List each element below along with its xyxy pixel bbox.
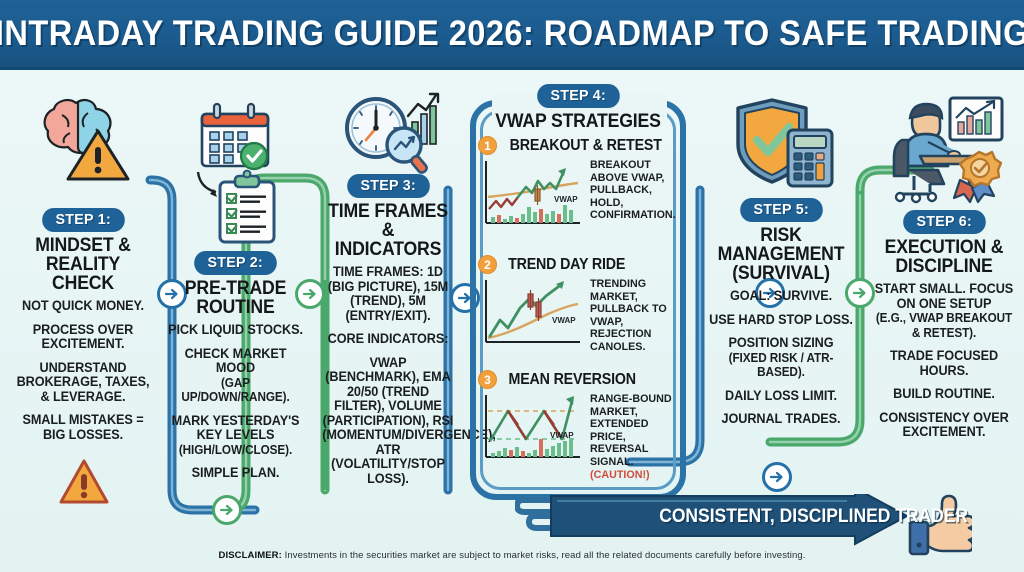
header-bar: INTRADAY TRADING GUIDE 2026: ROADMAP TO … <box>0 0 1024 70</box>
arrow-right-icon <box>219 502 235 518</box>
step-2-title: PRE-TRADE ROUTINE <box>168 279 303 317</box>
step-6-title: EXECUTION & DISCIPLINE <box>873 238 1014 276</box>
chart-breakout-retest: VWAP <box>478 157 586 231</box>
step-3-badge: STEP 3: <box>347 174 429 198</box>
strategy-2-description: TRENDING MARKET, PULLBACK TO VWAP, REJEC… <box>590 276 674 354</box>
step-5-title: RISK MANAGEMENT (SURVIVAL) <box>706 226 857 283</box>
strategy-mean-reversion: 3 MEAN REVERSION <box>478 370 678 481</box>
strategy-1-description: BREAKOUT ABOVE VWAP, PULLBACK, HOLD, CON… <box>590 157 676 222</box>
list-item: NOT QUICK MONEY. <box>13 299 154 314</box>
strategy-2-body: VWAP TRENDING MARKET, PULLBACK TO VWAP, … <box>478 276 678 354</box>
step-2-bullets: PICK LIQUID STOCKS. CHECK MARKET MOOD (G… <box>163 323 308 481</box>
clock-magnifier-chart-icon <box>342 92 442 176</box>
list-item: PROCESS OVER EXCITEMENT. <box>13 323 154 352</box>
caution-note: (CAUTION!) <box>590 469 650 481</box>
page-title: INTRADAY TRADING GUIDE 2026: ROADMAP TO … <box>0 14 1024 54</box>
list-item: CONSISTENCY OVER EXCITEMENT. <box>873 411 1016 440</box>
list-item: UNDERSTAND BROKERAGE, TAXES, & LEVERAGE. <box>13 361 154 405</box>
list-item: START SMALL. FOCUS ON ONE SETUP (E.G., V… <box>873 282 1016 340</box>
list-item: CHECK MARKET MOOD (GAP UP/DOWN/RANGE). <box>167 347 303 405</box>
brain-warning-icon <box>36 93 132 183</box>
vwap-label: VWAP <box>550 431 574 440</box>
step-5-bullets: GOAL: SURVIVE. USE HARD STOP LOSS. POSIT… <box>700 289 862 427</box>
list-item: BUILD ROUTINE. <box>873 387 1016 402</box>
strategy-number-badge: 3 <box>478 370 497 389</box>
strategy-3-description: RANGE-BOUND MARKET, EXTENDED PRICE, REVE… <box>590 391 674 481</box>
strategy-2-name: TREND DAY RIDE <box>508 256 625 274</box>
warning-triangle-icon <box>58 458 110 506</box>
strategy-2-header: 2 TREND DAY RIDE <box>478 255 678 274</box>
strategy-number-badge: 2 <box>478 255 497 274</box>
strategy-breakout-retest: 1 BREAKOUT & RETEST <box>478 136 678 231</box>
list-item: VWAP (BENCHMARK), EMA 20/50 (TREND FILTE… <box>322 356 454 487</box>
connector-arrow-2-bottom <box>212 495 242 525</box>
chart-mean-reversion: VWAP <box>478 391 586 465</box>
strategy-3-body: VWAP RANGE-BOUND MARKET, EXTENDED PRICE,… <box>478 391 678 481</box>
step-4-header: STEP 4: VWAP STRATEGIES <box>470 84 686 133</box>
step-4-badge: STEP 4: <box>537 84 619 108</box>
strategy-trend-day-ride: 2 TREND DAY RIDE VWAP TRENDING MARKET, P… <box>478 255 678 354</box>
step-1-bullets: NOT QUICK MONEY. PROCESS OVER EXCITEMENT… <box>8 299 158 442</box>
step-4-title: VWAP STRATEGIES <box>478 111 679 133</box>
strategy-1-name: BREAKOUT & RETEST <box>510 137 662 155</box>
vwap-label: VWAP <box>554 195 578 204</box>
infographic-root: INTRADAY TRADING GUIDE 2026: ROADMAP TO … <box>0 0 1024 572</box>
disclaimer-prefix: DISCLAIMER: <box>219 550 282 561</box>
list-item: MARK YESTERDAY'S KEY LEVELS (HIGH/LOW/CL… <box>167 414 303 458</box>
list-item: SIMPLE PLAN. <box>167 466 303 481</box>
step-3-bullets: TIME FRAMES: 1D (BIG PICTURE), 15M (TREN… <box>318 265 458 486</box>
chart-trend-day-ride: VWAP <box>478 276 586 350</box>
arrow-right-icon <box>769 469 785 485</box>
step-column-6: STEP 6: EXECUTION & DISCIPLINE START SMA… <box>868 90 1020 449</box>
trader-at-desk-award-icon <box>888 92 1006 204</box>
strategy-3-name: MEAN REVERSION <box>509 371 636 389</box>
calendar-checklist-icon <box>188 98 288 248</box>
banner-label: CONSISTENT, DISCIPLINED TRADER <box>659 506 871 528</box>
step-column-3: STEP 3: TIME FRAMES & INDICATORS TIME FR… <box>318 90 458 495</box>
step-1-badge: STEP 1: <box>42 208 124 232</box>
disclaimer-text: Investments in the securities market are… <box>282 550 806 561</box>
shield-check-calculator-icon <box>726 94 838 194</box>
list-item: CORE INDICATORS: <box>322 332 454 347</box>
step-2-badge: STEP 2: <box>194 251 276 275</box>
list-item: TIME FRAMES: 1D (BIG PICTURE), 15M (TREN… <box>322 265 454 323</box>
list-item: USE HARD STOP LOSS. <box>705 313 857 328</box>
strategy-3-header: 3 MEAN REVERSION <box>478 370 678 389</box>
list-item: PICK LIQUID STOCKS. <box>167 323 303 338</box>
bottom-banner: CONSISTENT, DISCIPLINED TRADER <box>530 497 910 541</box>
list-item: DAILY LOSS LIMIT. <box>705 389 857 404</box>
step-6-badge: STEP 6: <box>903 210 985 234</box>
list-item: GOAL: SURVIVE. <box>705 289 857 304</box>
list-item: POSITION SIZING (FIXED RISK / ATR-BASED)… <box>705 336 857 380</box>
step-5-badge: STEP 5: <box>740 198 822 222</box>
step-6-bullets: START SMALL. FOCUS ON ONE SETUP (E.G., V… <box>868 282 1020 440</box>
step-column-1: STEP 1: MINDSET & REALITY CHECK NOT QUIC… <box>8 90 158 451</box>
step-3-title: TIME FRAMES & INDICATORS <box>323 202 453 259</box>
disclaimer: DISCLAIMER: Investments in the securitie… <box>0 550 1024 561</box>
strategy-1-header: 1 BREAKOUT & RETEST <box>478 136 678 155</box>
strategy-number-badge: 1 <box>478 136 497 155</box>
list-item: TRADE FOCUSED HOURS. <box>873 349 1016 378</box>
step-column-5: STEP 5: RISK MANAGEMENT (SURVIVAL) GOAL:… <box>700 90 862 436</box>
list-item: JOURNAL TRADES. <box>705 412 857 427</box>
step-1-title: MINDSET & REALITY CHECK <box>13 236 153 293</box>
list-item: SMALL MISTAKES = BIG LOSSES. <box>13 413 154 442</box>
vwap-label: VWAP <box>552 316 576 325</box>
connector-arrow-5-bottom <box>762 462 792 492</box>
strategy-1-body: VWAP BREAKOUT ABOVE VWAP, PULLBACK, HOLD… <box>478 157 678 231</box>
step-column-2: STEP 2: PRE-TRADE ROUTINE PICK LIQUID ST… <box>163 90 308 490</box>
